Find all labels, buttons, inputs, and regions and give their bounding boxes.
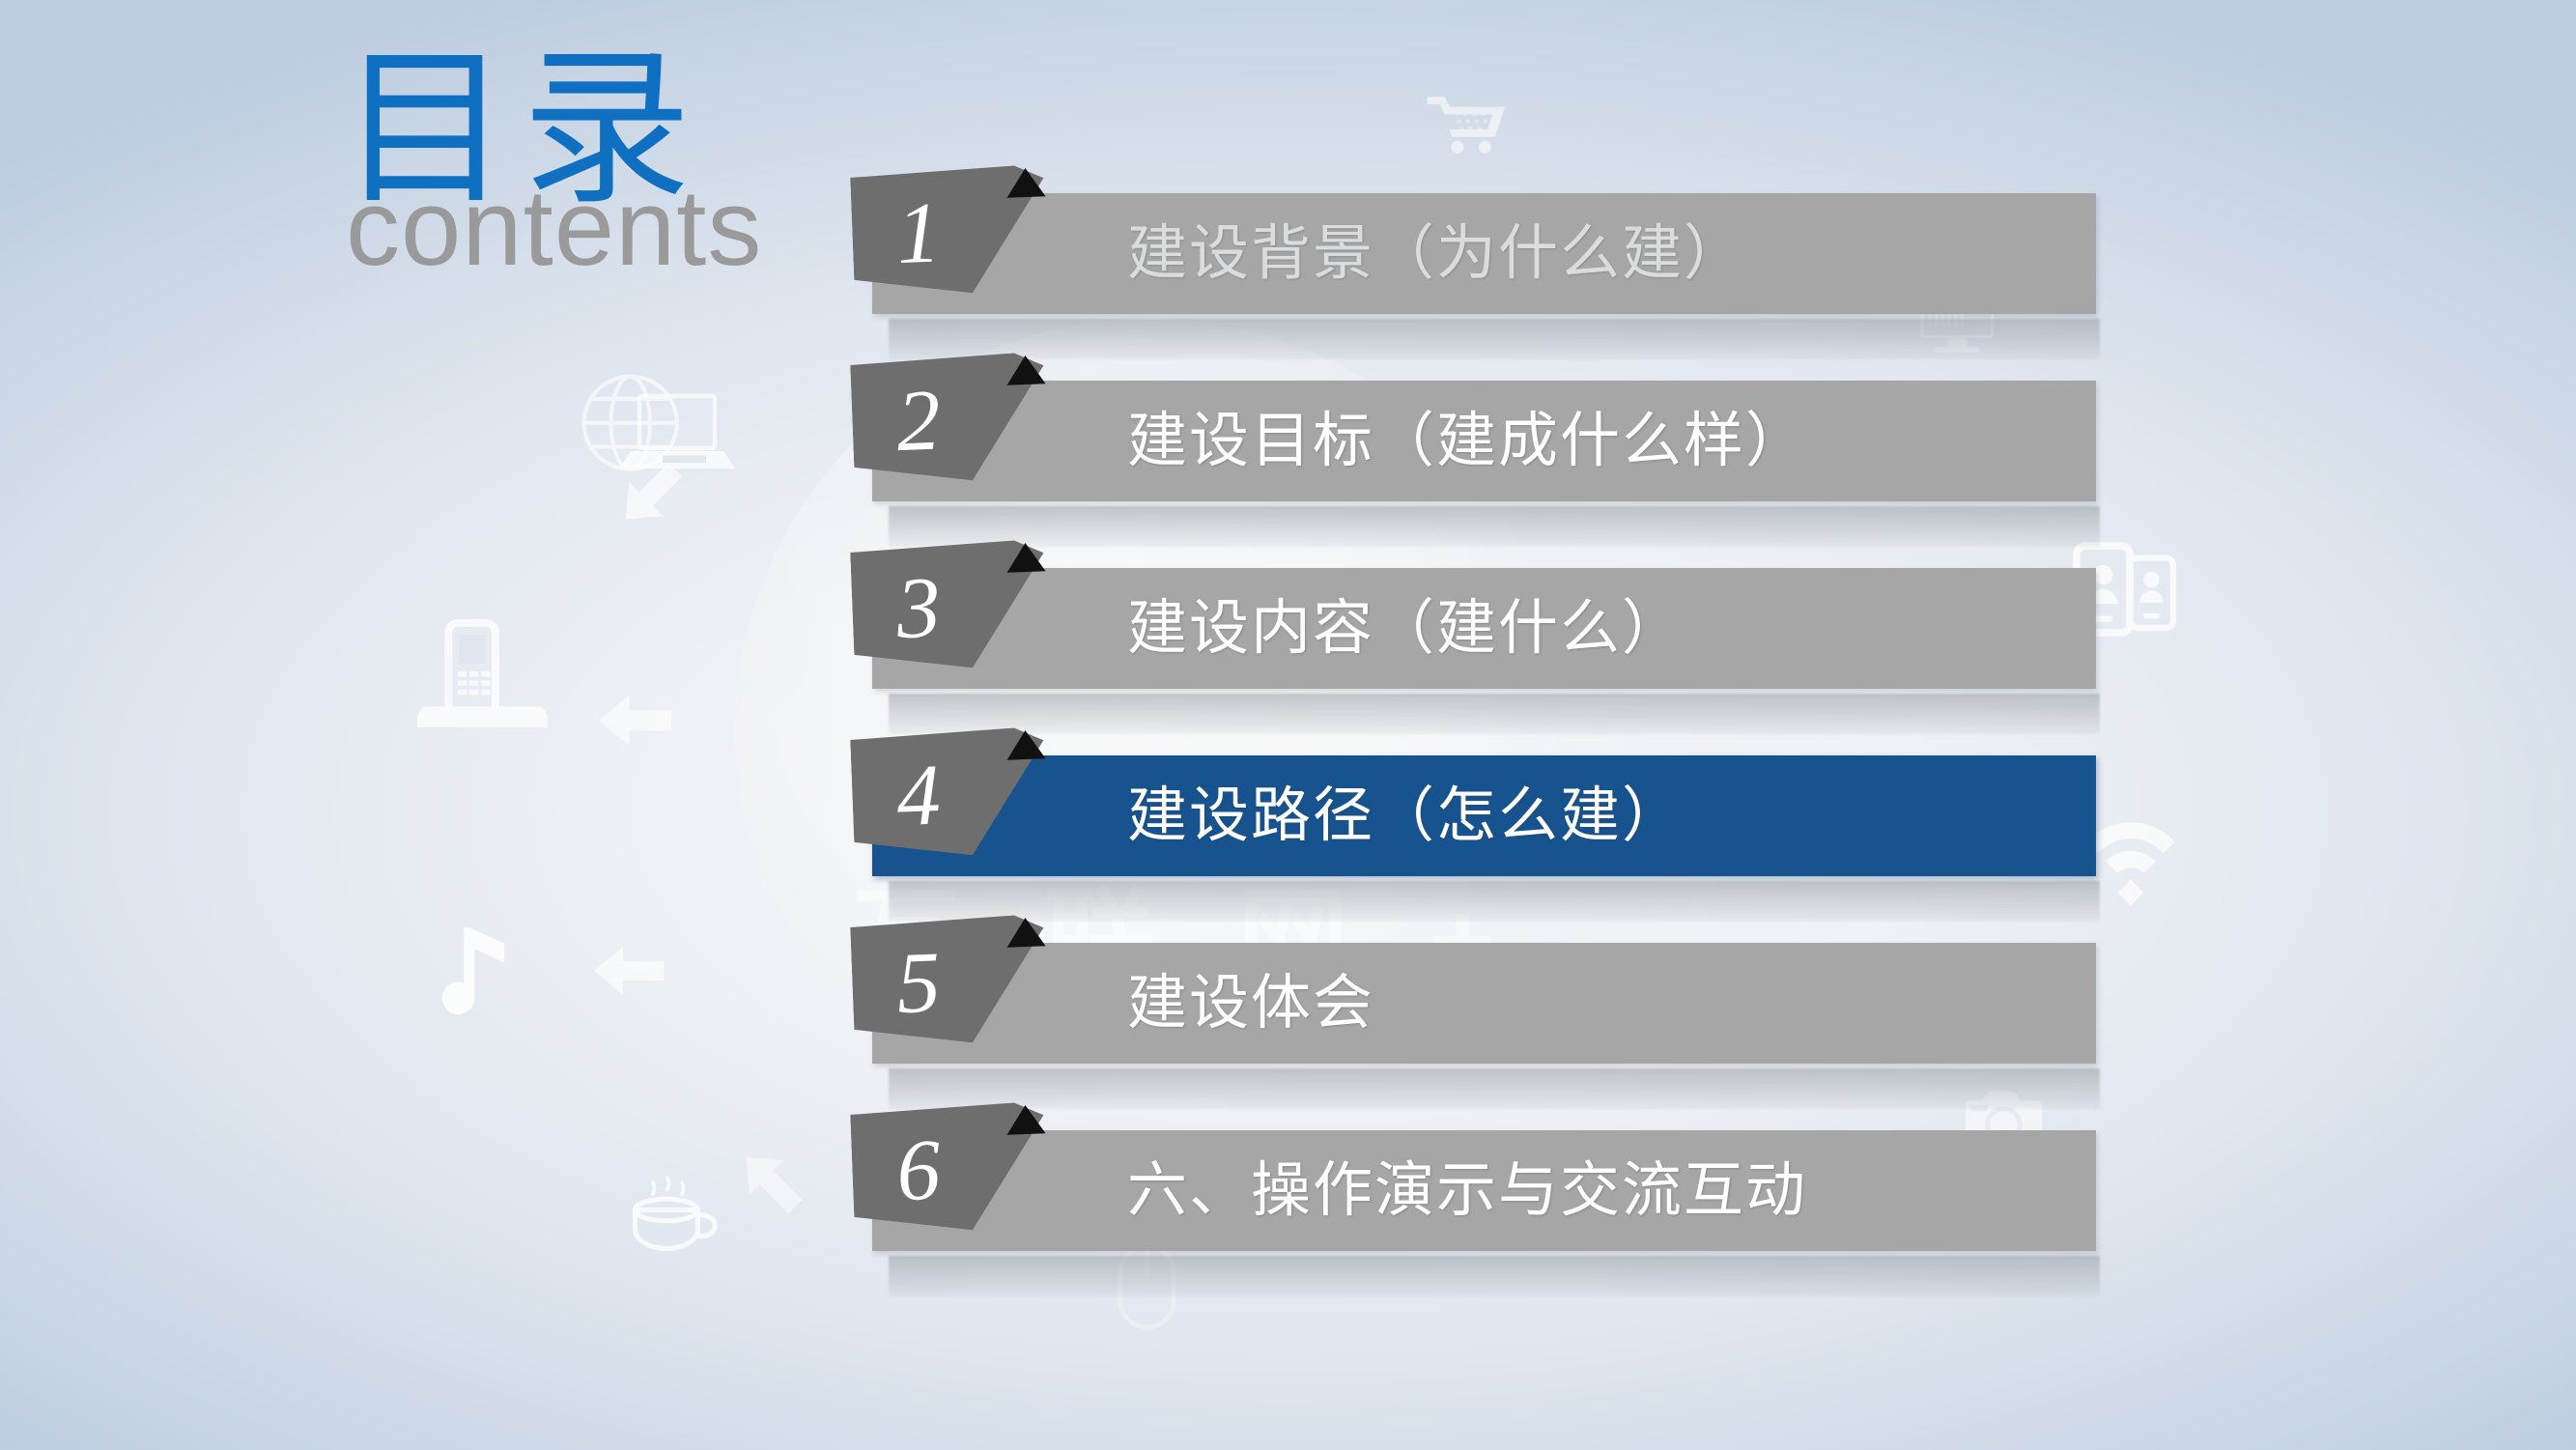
contents-item-3[interactable]: 建设内容（建什么）3 [850,547,2096,730]
contents-list: 建设背景（为什么建）1建设目标（建成什么样）2建设内容（建什么）3建设路径（怎么… [0,0,2576,1450]
bar-reflection [889,881,2100,922]
contents-item-label: 建设目标（建成什么样） [1127,412,1807,471]
contents-bar[interactable]: 建设体会 [872,943,2096,1064]
contents-number: 4 [894,739,942,855]
corner-fold-icon [1005,729,1045,760]
bar-reflection [889,1068,2100,1109]
contents-item-2[interactable]: 建设目标（建成什么样）2 [850,359,2096,543]
bar-reflection [889,694,2100,734]
contents-item-label: 建设内容（建什么） [1127,599,1684,659]
contents-item-5[interactable]: 建设体会5 [850,922,2096,1105]
contents-item-label: 六、操作演示与交流互动 [1127,1161,1807,1221]
contents-bar[interactable]: 建设背景（为什么建） [872,193,2096,314]
contents-item-label: 建设体会 [1127,974,1374,1034]
contents-item-4[interactable]: 建设路径（怎么建）4 [850,734,2096,918]
contents-number: 1 [894,177,942,293]
contents-item-label: 建设路径（怎么建） [1127,786,1684,846]
contents-item-6[interactable]: 六、操作演示与交流互动6 [850,1109,2096,1293]
bar-reflection [889,319,2100,359]
contents-bar[interactable]: 建设目标（建成什么样） [872,381,2096,501]
contents-bar-active[interactable]: 建设路径（怎么建） [872,755,2096,876]
corner-fold-icon [1005,917,1045,948]
corner-fold-icon [1005,167,1045,198]
contents-item-1[interactable]: 建设背景（为什么建）1 [850,172,2096,355]
contents-number: 3 [894,552,942,668]
contents-item-label: 建设背景（为什么建） [1127,224,1745,284]
contents-bar[interactable]: 建设内容（建什么） [872,568,2096,689]
corner-fold-icon [1005,542,1045,573]
contents-bar[interactable]: 六、操作演示与交流互动 [872,1130,2096,1251]
bar-reflection [889,506,2100,547]
corner-fold-icon [1005,1104,1045,1135]
bar-reflection [889,1256,2100,1296]
contents-number: 2 [894,364,942,480]
contents-number: 6 [894,1114,942,1230]
presentation-slide: 互 联 网 + [0,0,2576,1450]
corner-fold-icon [1005,355,1045,385]
contents-number: 5 [894,926,942,1042]
